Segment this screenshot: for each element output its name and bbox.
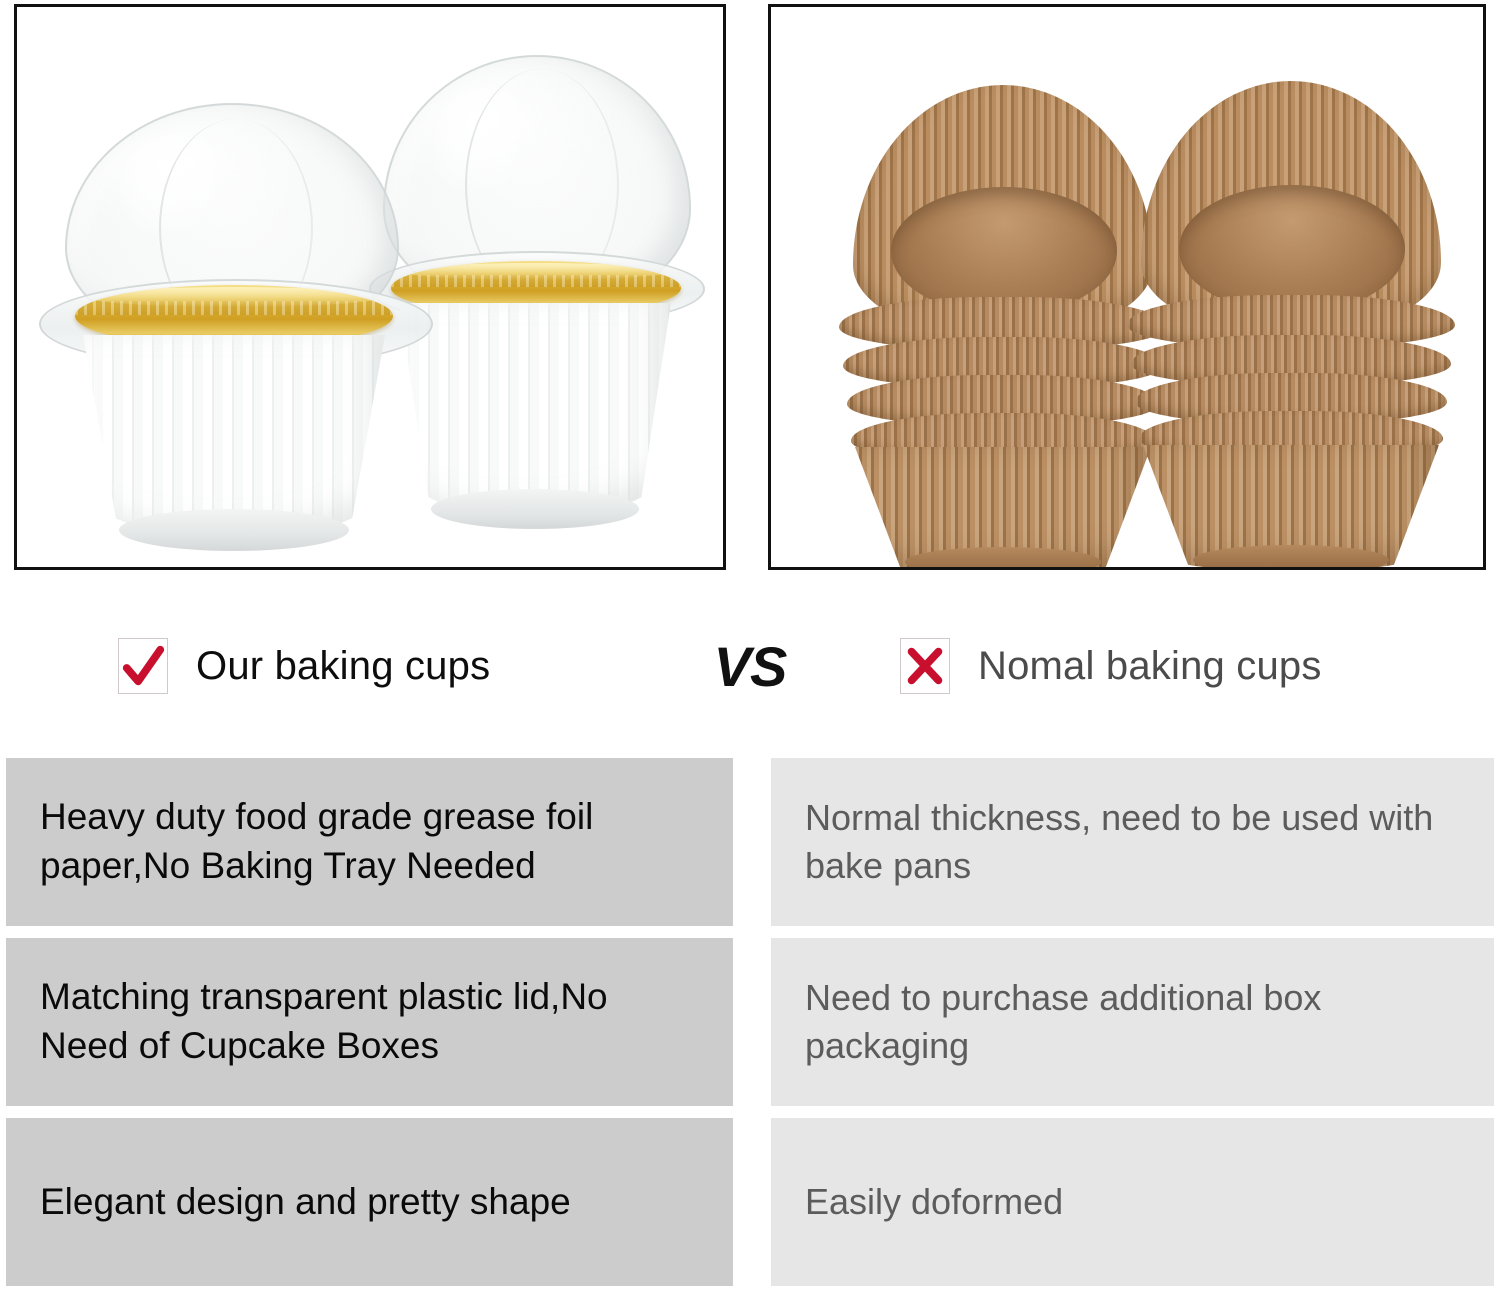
kraft-liner-stack-right (1119, 81, 1459, 555)
comparison-header-row: Our baking cups VS Nomal baking cups (0, 600, 1500, 732)
cup-body (83, 335, 385, 537)
our-feature-cell: Heavy duty food grade grease foil paper,… (6, 758, 733, 926)
kraft-liner-interior (891, 187, 1117, 315)
cup-base (431, 489, 639, 529)
comparison-table: Heavy duty food grade grease foil paper,… (0, 758, 1500, 1298)
normal-feature-cell: Normal thickness, need to be used with b… (771, 758, 1494, 926)
domed-lid-cup-front (39, 103, 429, 553)
kraft-liner-foot (1193, 545, 1389, 570)
photo-panel-normal-cups (768, 4, 1486, 570)
normal-feature-cell: Easily doformed (771, 1118, 1494, 1286)
product-photo-row (0, 0, 1500, 574)
normal-feature-cell: Need to purchase additional box packagin… (771, 938, 1494, 1106)
our-cups-label: Our baking cups (196, 644, 490, 689)
normal-feature-text: Need to purchase additional box packagin… (805, 974, 1460, 1069)
our-feature-text: Heavy duty food grade grease foil paper,… (40, 793, 699, 891)
kraft-liner-foot (905, 547, 1101, 570)
normal-cups-header: Nomal baking cups (900, 600, 1322, 732)
cup-base (119, 509, 349, 551)
cup-body (399, 303, 671, 517)
our-feature-cell: Matching transparent plastic lid,No Need… (6, 938, 733, 1106)
our-feature-text: Matching transparent plastic lid,No Need… (40, 973, 699, 1071)
normal-feature-text: Easily doformed (805, 1178, 1063, 1226)
table-row: Matching transparent plastic lid,No Need… (0, 938, 1500, 1106)
normal-feature-text: Normal thickness, need to be used with b… (805, 794, 1460, 889)
normal-cups-scene (771, 7, 1483, 567)
versus-label: VS (690, 600, 810, 732)
our-feature-cell: Elegant design and pretty shape (6, 1118, 733, 1286)
normal-cups-label: Nomal baking cups (978, 644, 1322, 689)
cross-mark-icon (900, 638, 950, 694)
table-row: Elegant design and pretty shape Easily d… (0, 1118, 1500, 1286)
check-mark-icon (118, 638, 168, 694)
kraft-liner-interior (1179, 185, 1405, 313)
our-cups-header: Our baking cups (118, 600, 490, 732)
our-cups-scene (17, 7, 723, 567)
table-row: Heavy duty food grade grease foil paper,… (0, 758, 1500, 926)
our-feature-text: Elegant design and pretty shape (40, 1178, 571, 1227)
photo-panel-our-cups (14, 4, 726, 570)
